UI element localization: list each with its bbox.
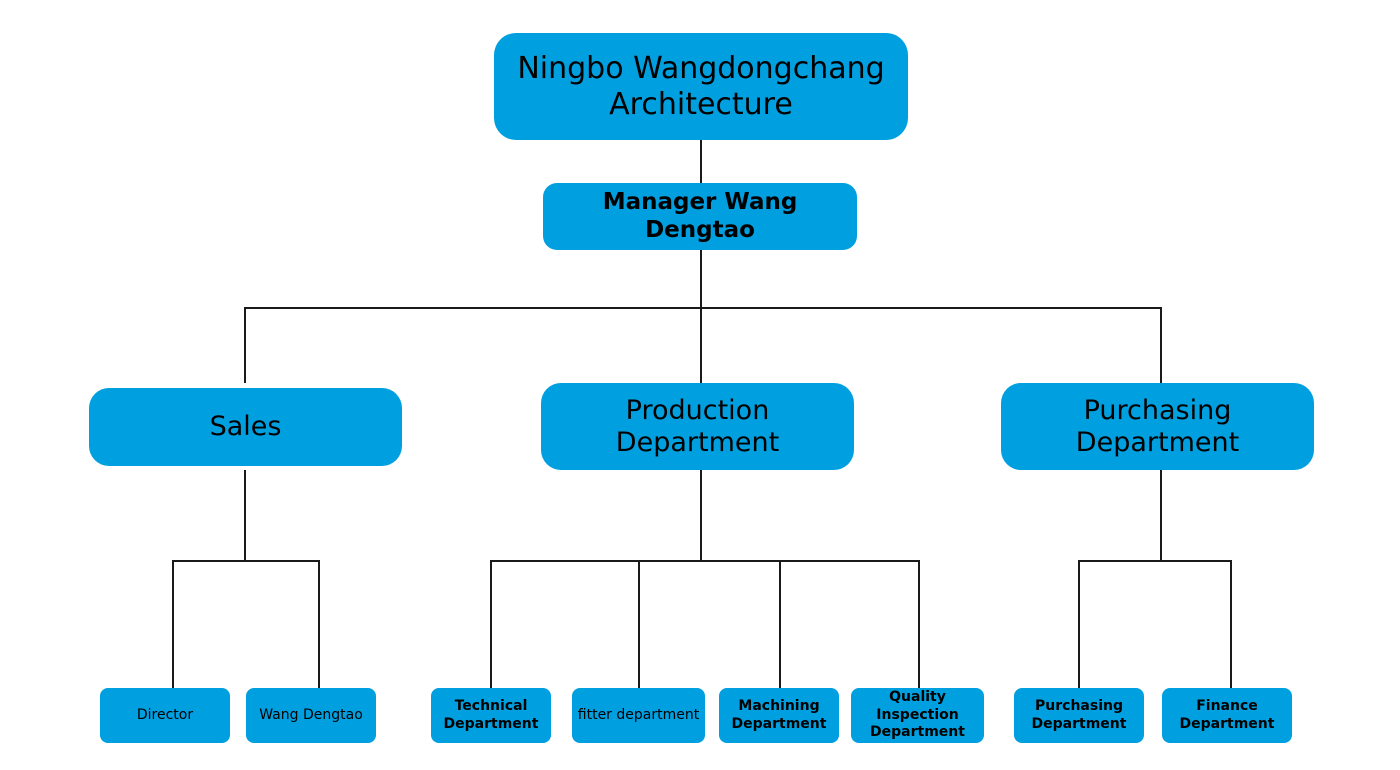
connector-bus-to-sales	[244, 307, 246, 383]
connector-purchasing-to-purchasing-leaf	[1078, 560, 1080, 688]
connector-manager-drop	[700, 250, 702, 308]
node-fitter-department[interactable]: fitter department	[572, 688, 705, 743]
node-manager[interactable]: Manager Wang Dengtao	[543, 183, 857, 250]
connector-production-to-machining	[779, 560, 781, 688]
node-root[interactable]: Ningbo Wangdongchang Architecture	[494, 33, 908, 140]
connector-production-bus	[490, 560, 920, 562]
org-chart: Ningbo Wangdongchang Architecture Manage…	[0, 0, 1400, 770]
connector-production-to-technical	[490, 560, 492, 688]
node-wang-dengtao[interactable]: Wang Dengtao	[246, 688, 376, 743]
node-sales[interactable]: Sales	[89, 388, 402, 466]
connector-purchasing-drop	[1160, 470, 1162, 561]
connector-purchasing-bus	[1078, 560, 1232, 562]
connector-bus-to-production	[700, 307, 702, 383]
node-quality-inspection-department[interactable]: Quality Inspection Department	[851, 688, 984, 743]
connector-sales-to-wang-dengtao	[318, 560, 320, 688]
node-finance-department[interactable]: Finance Department	[1162, 688, 1292, 743]
connector-production-to-fitter	[638, 560, 640, 688]
node-purchasing-department-leaf[interactable]: Purchasing Department	[1014, 688, 1144, 743]
connector-level3-bus	[244, 307, 1162, 309]
node-technical-department[interactable]: Technical Department	[431, 688, 551, 743]
node-director[interactable]: Director	[100, 688, 230, 743]
node-machining-department[interactable]: Machining Department	[719, 688, 839, 743]
node-purchasing-department[interactable]: Purchasing Department	[1001, 383, 1314, 470]
node-production-department[interactable]: Production Department	[541, 383, 854, 470]
connector-root-to-manager	[700, 140, 702, 183]
connector-bus-to-purchasing	[1160, 307, 1162, 383]
connector-production-to-quality	[918, 560, 920, 688]
connector-production-drop	[700, 470, 702, 561]
connector-sales-drop	[244, 470, 246, 561]
connector-sales-bus	[172, 560, 320, 562]
connector-purchasing-to-finance	[1230, 560, 1232, 688]
connector-sales-to-director	[172, 560, 174, 688]
